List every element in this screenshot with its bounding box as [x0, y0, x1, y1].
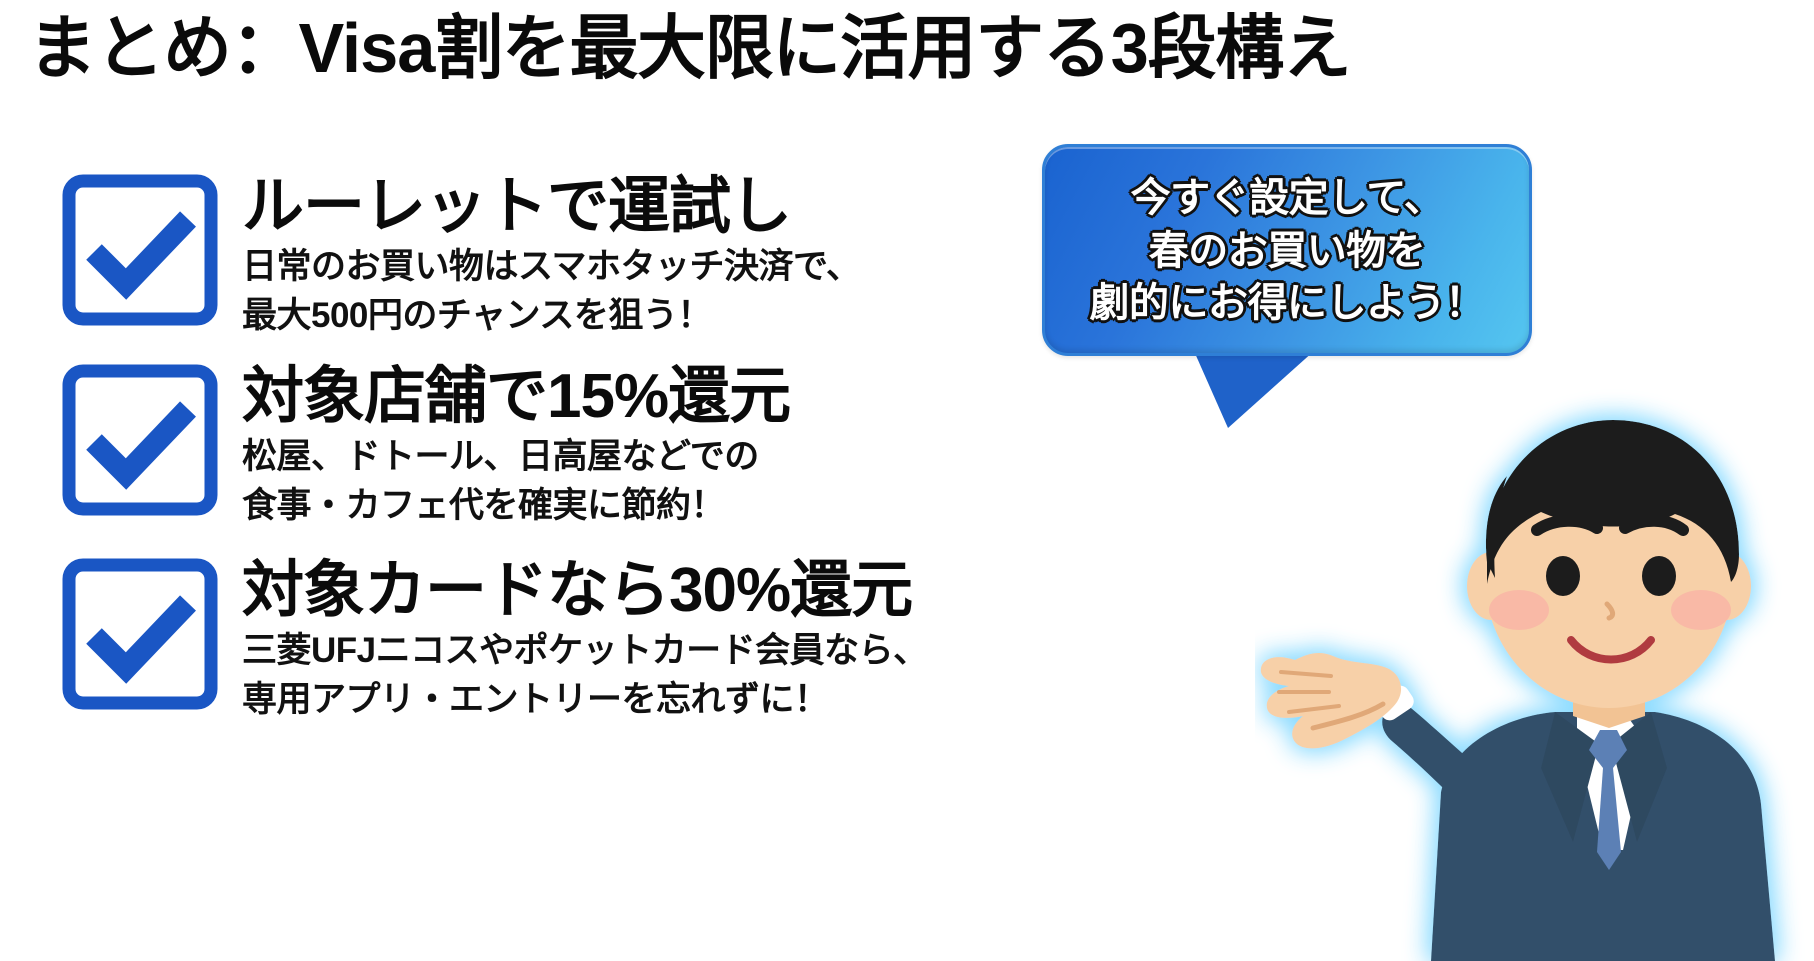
list-item-subline-1: 三菱UFJニコスやポケットカード会員なら、 — [242, 629, 1070, 672]
speech-bubble-line-1: 今すぐ設定して、 — [1131, 172, 1444, 225]
list-item-text: 対象カードなら30%還元 三菱UFJニコスやポケットカード会員なら、 専用アプリ… — [242, 554, 1070, 722]
list-item: 対象カードなら30%還元 三菱UFJニコスやポケットカード会員なら、 専用アプリ… — [60, 554, 1070, 722]
speech-bubble-line-2: 春のお買い物を — [1149, 225, 1426, 278]
checkbox-checked-icon — [60, 174, 220, 326]
list-item-subline-2: 食事・カフェ代を確実に節約！ — [242, 484, 1070, 527]
list-item-subline-1: 松屋、ドトール、日高屋などでの — [242, 435, 1070, 478]
checkbox-checked-icon — [60, 364, 220, 516]
list-item-heading: 対象店舗で15%還元 — [242, 364, 1070, 429]
page-title: まとめ：Visa割を最大限に活用する3段構え — [28, 8, 1596, 89]
list-item-text: 対象店舗で15%還元 松屋、ドトール、日高屋などでの 食事・カフェ代を確実に節約… — [242, 360, 1070, 528]
list-item-subline-2: 専用アプリ・エントリーを忘れずに！ — [242, 678, 1070, 721]
list-item: ルーレットで運試し 日常のお買い物はスマホタッチ決済で、 最大500円のチャンス… — [60, 170, 1070, 338]
speech-bubble-line-3: 劇的にお得にしよう！ — [1090, 277, 1485, 330]
list-item: 対象店舗で15%還元 松屋、ドトール、日高屋などでの 食事・カフェ代を確実に節約… — [60, 360, 1070, 528]
checkbox-checked-icon — [60, 558, 220, 710]
list-item-heading: 対象カードなら30%還元 — [242, 558, 1070, 623]
speech-bubble: 今すぐ設定して、 春のお買い物を 劇的にお得にしよう！ — [1042, 144, 1532, 356]
list-item-text: ルーレットで運試し 日常のお買い物はスマホタッチ決済で、 最大500円のチャンス… — [242, 170, 1070, 338]
speech-bubble-text: 今すぐ設定して、 春のお買い物を 劇的にお得にしよう！ — [1042, 144, 1532, 356]
checklist: ルーレットで運試し 日常のお買い物はスマホタッチ決済で、 最大500円のチャンス… — [60, 170, 1070, 722]
businessman-presenting-illustration — [1255, 372, 1805, 961]
list-item-subline-2: 最大500円のチャンスを狙う！ — [242, 294, 1070, 337]
list-item-subline-1: 日常のお買い物はスマホタッチ決済で、 — [242, 245, 1070, 288]
list-item-heading: ルーレットで運試し — [242, 174, 1070, 239]
